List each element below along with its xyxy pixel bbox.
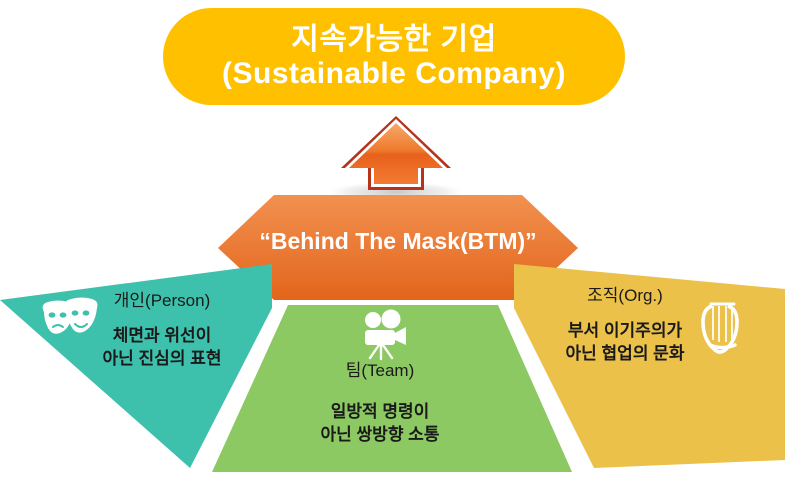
title-banner[interactable]: 지속가능한 기업 (Sustainable Company) [163,8,625,105]
banner-title-korean: 지속가능한 기업 [291,23,497,57]
diagram-canvas: 지속가능한 기업 (Sustainable Company) “Behind T… [0,0,785,490]
banner-title-english: (Sustainable Company) [222,57,566,91]
up-arrow-icon [341,116,451,190]
